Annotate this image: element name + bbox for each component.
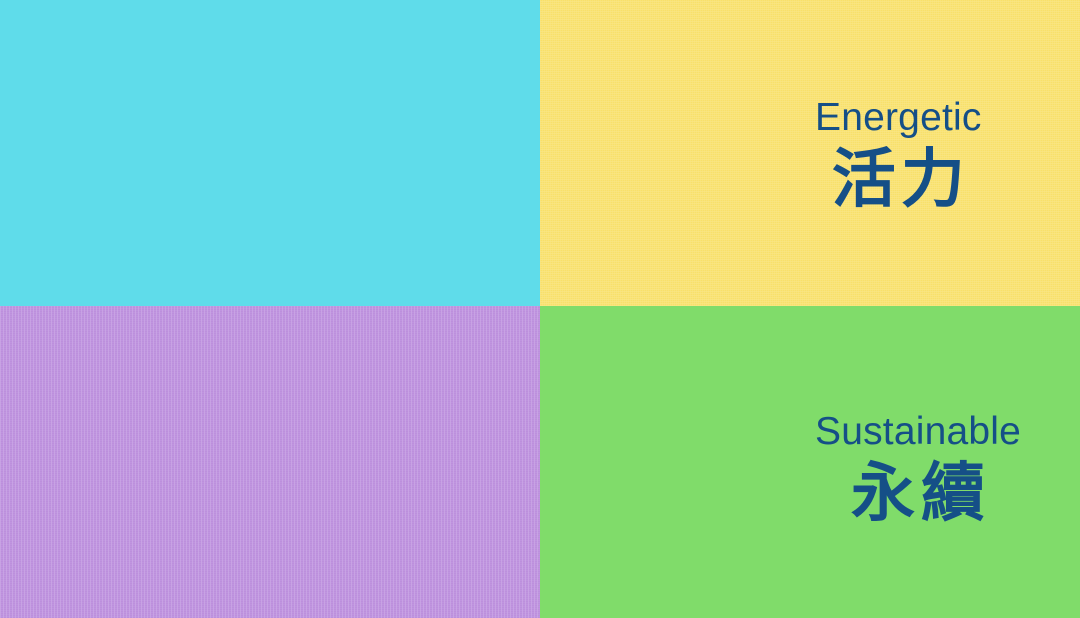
label-zh-sustainable: 永續: [815, 459, 1021, 528]
label-en-energetic: Energetic: [815, 98, 982, 139]
texture-overlay-energetic: [540, 0, 1080, 306]
label-stack-energetic: Energetic 活力: [815, 98, 982, 214]
label-stack-sustainable: Sustainable 永續: [815, 412, 1021, 528]
quadrant-energetic: Energetic 活力: [540, 0, 1080, 306]
texture-overlay-innovative: [0, 306, 540, 618]
label-en-sustainable: Sustainable: [815, 412, 1021, 453]
quadrant-innovative: Innovative 創新: [0, 306, 540, 618]
label-zh-energetic: 活力: [815, 145, 982, 214]
brand-values-poster: Smart 智慧 Energetic 活力 Innovative 創新 Sust…: [0, 0, 1080, 618]
quadrant-smart: Smart 智慧: [0, 0, 540, 306]
quadrant-sustainable: Sustainable 永續: [540, 306, 1080, 618]
quadrant-grid: Smart 智慧 Energetic 活力 Innovative 創新 Sust…: [0, 0, 1080, 618]
